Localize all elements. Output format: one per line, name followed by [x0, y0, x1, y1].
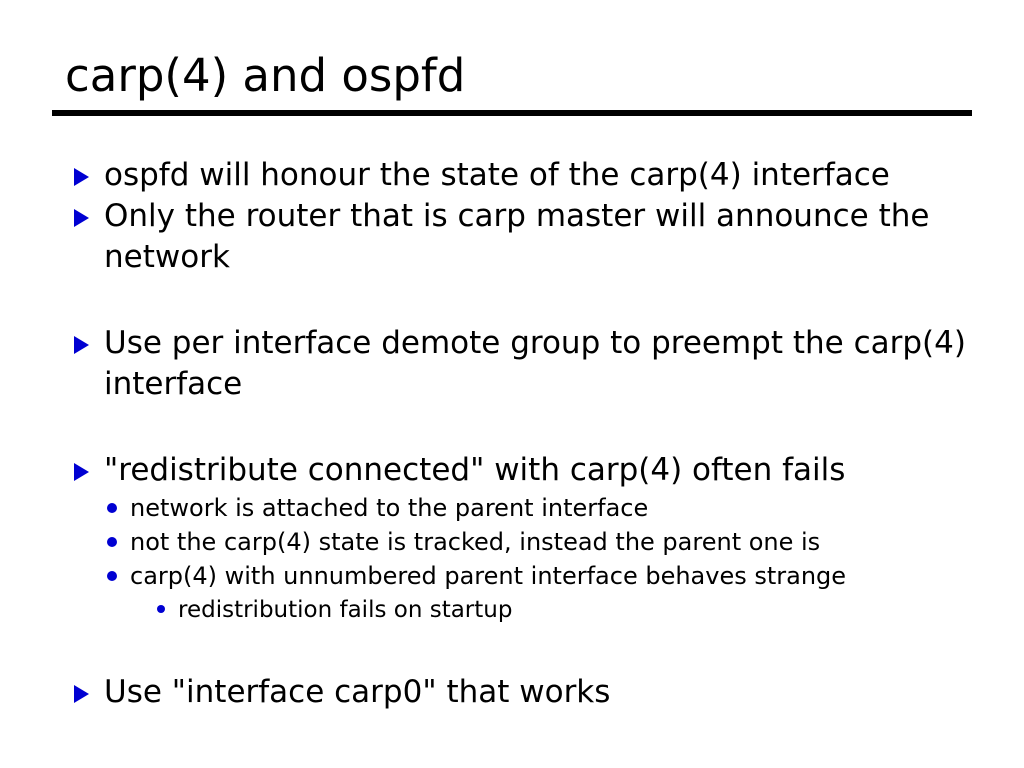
sub-sub-list-item: redistribution fails on startup [70, 593, 1010, 627]
list-item-label: Use "interface carp0" that works [104, 672, 1010, 713]
blue-dot-bullet-icon [104, 525, 130, 547]
list-item: Use per interface demote group to preemp… [70, 323, 1010, 405]
list-item-label: Only the router that is carp master will… [104, 196, 1010, 278]
list-item-label: ospfd will honour the state of the carp(… [104, 155, 1010, 196]
list-item: "redistribute connected" with carp(4) of… [70, 450, 1010, 491]
list-item: Only the router that is carp master will… [70, 196, 1010, 278]
sub-list-item-label: network is attached to the parent interf… [130, 491, 1010, 525]
blue-dot-bullet-icon [104, 559, 130, 581]
sub-list-item: carp(4) with unnumbered parent interface… [70, 559, 1010, 593]
sub-list-item: not the carp(4) state is tracked, instea… [70, 525, 1010, 559]
list-item-label: Use per interface demote group to preemp… [104, 323, 1010, 405]
list-item-label: "redistribute connected" with carp(4) of… [104, 450, 1010, 491]
list-item: Use "interface carp0" that works [70, 672, 1010, 713]
blue-triangle-bullet-icon [70, 196, 104, 227]
sub-list-item-label: not the carp(4) state is tracked, instea… [130, 525, 1010, 559]
list-item: ospfd will honour the state of the carp(… [70, 155, 1010, 196]
bullet-list: ospfd will honour the state of the carp(… [70, 155, 1010, 713]
sub-list-item: network is attached to the parent interf… [70, 491, 1010, 525]
blue-triangle-bullet-icon [70, 450, 104, 481]
blue-triangle-bullet-icon [70, 323, 104, 354]
bullet-group: "redistribute connected" with carp(4) of… [70, 450, 1010, 627]
blue-small-dot-bullet-icon [154, 593, 178, 613]
sub-sub-list-item-label: redistribution fails on startup [178, 593, 1010, 627]
blue-triangle-bullet-icon [70, 672, 104, 703]
sub-list-item-label: carp(4) with unnumbered parent interface… [130, 559, 1010, 593]
title-underline-rule [52, 110, 972, 116]
bullet-group: ospfd will honour the state of the carp(… [70, 155, 1010, 278]
bullet-group: Use "interface carp0" that works [70, 672, 1010, 713]
blue-dot-bullet-icon [104, 491, 130, 513]
blue-triangle-bullet-icon [70, 155, 104, 186]
bullet-group: Use per interface demote group to preemp… [70, 323, 1010, 405]
slide: carp(4) and ospfd ospfd will honour the … [0, 0, 1024, 768]
title-block: carp(4) and ospfd [52, 48, 972, 116]
page-title: carp(4) and ospfd [52, 48, 972, 104]
